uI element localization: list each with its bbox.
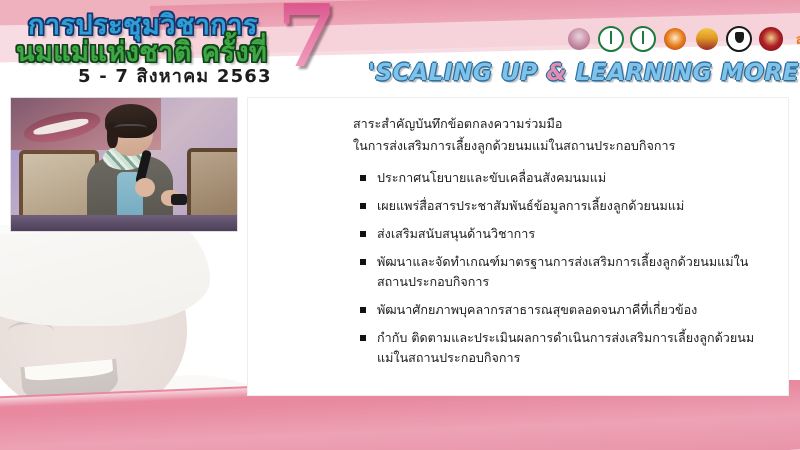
conference-date: 5 - 7 สิงหาคม 2563 [78, 61, 272, 90]
poster-lips [21, 106, 103, 148]
tagline-ampersand: & [546, 60, 567, 86]
royal-seal-logo [566, 24, 592, 54]
thaihealth-logo: สสส [790, 26, 800, 52]
slide-bullet-list: ประกาศนโยบายและขับเคลื่อนสังคมนมแม่ เผยแ… [360, 168, 770, 376]
list-item: ส่งเสริมสนับสนุนด้านวิชาการ [360, 224, 770, 244]
conference-speaker-video[interactable] [10, 97, 238, 232]
garuda-emblem-logo [694, 24, 720, 54]
list-item: ประกาศนโยบายและขับเคลื่อนสังคมนมแม่ [360, 168, 770, 188]
presentation-slide: 7 การประชุมวิชาการ นมแม่แห่งชาติ ครั้งที… [0, 0, 800, 450]
slide-content-panel: สาระสำคัญบันทึกข้อตกลงความร่วมมือ ในการส… [247, 97, 789, 396]
conference-tagline: 'SCALING UP & LEARNING MORE' [368, 60, 800, 86]
slide-header: 7 การประชุมวิชาการ นมแม่แห่งชาติ ครั้งที… [0, 0, 800, 96]
list-item: พัฒนาและจัดทำเกณฑ์มาตรฐานการส่งเสริมการเ… [360, 252, 770, 292]
stage-floor [11, 215, 237, 231]
list-item: กำกับ ติดตามและประเมินผลการดำเนินการส่งเ… [360, 328, 770, 368]
slide-lead-text: สาระสำคัญบันทึกข้อตกลงความร่วมมือ ในการส… [353, 113, 773, 157]
lead-line-1: สาระสำคัญบันทึกข้อตกลงความร่วมมือ [353, 113, 773, 135]
speaker-glasses [114, 124, 147, 134]
list-item: เผยแพร่สื่อสารประชาสัมพันธ์ข้อมูลการเลี้… [360, 196, 770, 216]
green-medical-logo-2 [630, 24, 656, 54]
list-item: พัฒนาศักยภาพบุคลากรสาธารณสุขตลอดจนภาคีที… [360, 300, 770, 320]
presenter-remote [171, 194, 187, 205]
sponsor-logo-strip: สสส [566, 24, 800, 54]
red-seal-logo [758, 24, 784, 54]
edition-number: 7 [277, 0, 337, 80]
lead-line-2: ในการส่งเสริมการเลี้ยงลูกด้วยนมแม่ในสถาน… [353, 135, 773, 157]
watermark-hat [0, 225, 210, 326]
tagline-part-before: 'SCALING UP [368, 60, 546, 86]
green-medical-logo-1 [598, 24, 624, 54]
speaker-hand-left [135, 178, 155, 197]
black-circle-logo [726, 24, 752, 54]
orange-emblem-logo [662, 24, 688, 54]
tagline-part-after: LEARNING MORE' [567, 60, 800, 86]
